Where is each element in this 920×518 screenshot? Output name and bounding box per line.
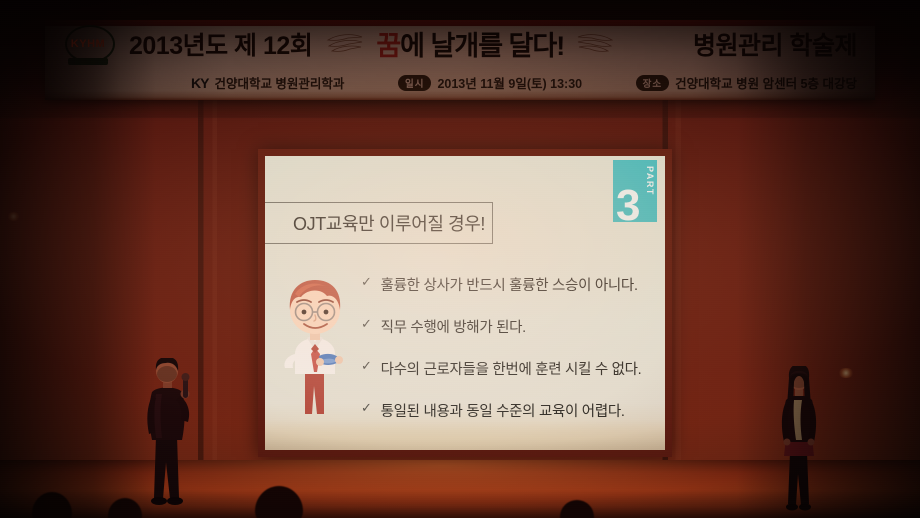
slide-title: OJT교육만 이루어질 경우!: [265, 210, 485, 236]
slide-title-box: OJT교육만 이루어질 경우!: [265, 202, 493, 244]
slide-bullet-item: ✓ 훌륭한 상사가 반드시 훌륭한 스승이 아니다.: [361, 274, 655, 295]
auditorium-scene: KYHM 2013년도 제 12회 꿈에 날개를 달다!: [0, 0, 920, 518]
presentation-slide: 3 PART OJT교육만 이루어질 경우! ✓ 훌륭한 상사가 반드시 훌륭한…: [265, 156, 665, 450]
screen-glare: [265, 420, 665, 450]
part-badge-number: 3: [616, 184, 640, 222]
kyhm-logo-label: KYHM: [71, 38, 105, 50]
slide-bullet-text: 다수의 근로자들을 한번에 훈련 시킬 수 없다.: [381, 358, 642, 379]
part-badge-label: PART: [645, 166, 655, 196]
slide-bullet-text: 직무 수행에 방해가 된다.: [381, 316, 526, 337]
slide-bullet-text: 훌륭한 상사가 반드시 훌륭한 스승이 아니다.: [381, 274, 638, 295]
part-badge: 3 PART: [613, 160, 657, 222]
projection-screen-frame: 3 PART OJT교육만 이루어질 경우! ✓ 훌륭한 상사가 반드시 훌륭한…: [258, 149, 672, 457]
slide-bullet-list: ✓ 훌륭한 상사가 반드시 훌륭한 스승이 아니다. ✓ 직무 수행에 방해가 …: [361, 274, 655, 421]
slide-bullet-item: ✓ 통일된 내용과 동일 수준의 교육이 어렵다.: [361, 400, 655, 421]
cartoon-businessman-icon: [271, 268, 363, 418]
projection-screen: 3 PART OJT교육만 이루어질 경우! ✓ 훌륭한 상사가 반드시 훌륭한…: [265, 156, 665, 450]
top-shadow-overlay: [0, 0, 920, 124]
slide-bullet-item: ✓ 직무 수행에 방해가 된다.: [361, 316, 655, 337]
slide-bullet-text: 통일된 내용과 동일 수준의 교육이 어렵다.: [381, 400, 625, 421]
slide-bullet-item: ✓ 다수의 근로자들을 한번에 훈련 시킬 수 없다.: [361, 358, 655, 379]
